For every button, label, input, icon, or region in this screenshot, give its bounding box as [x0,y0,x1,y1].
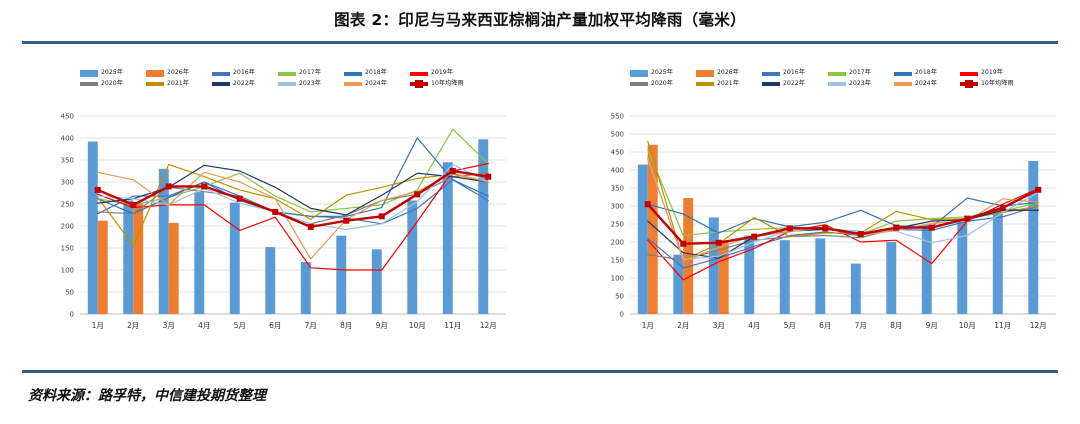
legend-swatch-icon [762,72,780,76]
legend-item-label: 2024年 [915,81,937,87]
legend-item-label: 2018年 [915,70,937,76]
y-axis-tick-label: 50 [615,293,624,301]
legend-swatch-icon [212,72,230,76]
legend-item[interactable]: 2018年 [344,70,410,77]
legend-item-label: 2019年 [431,70,453,76]
legend-swatch-icon [410,82,428,86]
y-axis-tick-label: 200 [611,239,624,247]
x-axis-tick-label: 6月 [269,321,281,330]
y-axis-tick-label: 250 [61,201,74,209]
legend-swatch-icon [894,72,912,76]
chart-panel-indonesia: 2025年2026年2016年2017年2018年2019年2020年2021年… [34,62,514,342]
chart-line-series[interactable] [648,157,1039,260]
chart-series-marker [822,225,828,231]
legend-item-label: 2026年 [717,70,739,76]
chart-line-series[interactable] [648,149,1039,235]
legend-item[interactable]: 2026年 [146,70,212,77]
chart-series-marker [379,213,385,219]
legend-swatch-icon [630,82,648,86]
legend-swatch-icon [960,82,978,86]
y-axis-tick-label: 500 [611,131,624,139]
chart-series-marker [751,234,757,240]
chart-line-series[interactable] [98,164,489,245]
legend-swatch-icon [696,70,714,77]
legend-swatch-icon [212,82,230,86]
chart-svg: 0501001502002503003504004501月2月3月4月5月6月7… [34,110,514,340]
chart-bar[interactable] [301,262,311,314]
legend-item[interactable]: 2020年 [630,81,696,87]
x-axis-tick-label: 11月 [994,321,1011,330]
legend-item-label: 2018年 [365,70,387,76]
legend-swatch-icon [630,70,648,77]
legend-item[interactable]: 2023年 [828,81,894,87]
chart-series-marker [414,191,420,197]
legend-item-label: 2024年 [365,81,387,87]
chart-bar[interactable] [638,165,648,314]
legend-swatch-icon [696,82,714,86]
chart-series-marker [485,174,491,180]
chart-series-marker [1000,205,1006,211]
chart-bar[interactable] [169,223,179,314]
x-axis-tick-label: 3月 [163,321,175,330]
x-axis-tick-label: 4月 [198,321,210,330]
y-axis-tick-label: 450 [611,149,624,157]
legend-item[interactable]: 2024年 [894,81,960,87]
chart-series-marker [201,183,207,189]
chart-bar[interactable] [957,221,967,314]
y-axis-tick-label: 400 [61,135,74,143]
legend-item-label: 2016年 [233,70,255,76]
chart-series-marker [929,225,935,231]
chart-bar[interactable] [336,236,346,314]
chart-bar[interactable] [265,247,275,314]
legend-item[interactable]: 2021年 [146,81,212,87]
x-axis-tick-label: 5月 [234,321,246,330]
report-figure-page: 图表 2：印尼与马来西亚棕榈油产量加权平均降雨（毫米） 2025年2026年20… [0,0,1080,424]
chart-bar[interactable] [88,142,98,314]
chart-bar[interactable] [98,221,108,314]
legend-item[interactable]: 10年均降雨 [410,81,476,87]
chart-bar[interactable] [194,192,204,314]
chart-line-series[interactable] [98,165,489,215]
source-note-text: 资料来源：路孚特，中信建投期货整理 [28,388,266,404]
x-axis-tick-label: 1月 [642,321,654,330]
legend-item-label: 2022年 [233,81,255,87]
legend-swatch-icon [762,82,780,86]
legend-item-label: 2019年 [981,70,1003,76]
legend-item[interactable]: 2026年 [696,70,762,77]
legend-item[interactable]: 2020年 [80,81,146,87]
x-axis-tick-label: 1月 [92,321,104,330]
x-axis-tick-label: 2月 [677,321,689,330]
legend-item[interactable]: 2016年 [212,70,278,77]
x-axis-tick-label: 9月 [926,321,938,330]
chart-panel-malaysia: 2025年2026年2016年2017年2018年2019年2020年2021年… [584,62,1064,342]
chart-series-marker [272,209,278,215]
legend-item[interactable]: 2022年 [212,81,278,87]
y-axis-tick-label: 350 [611,185,624,193]
legend-item[interactable]: 2019年 [410,70,476,77]
chart-series-marker [716,240,722,246]
chart-line-series[interactable] [98,164,489,270]
legend-item-label: 2020年 [101,81,123,87]
legend-item[interactable]: 2025年 [630,70,696,77]
x-axis-tick-label: 7月 [305,321,317,330]
page-title: 图表 2：印尼与马来西亚棕榈油产量加权平均降雨（毫米） [0,8,1080,30]
chart-series-marker [858,231,864,237]
legend-item-label: 2023年 [299,81,321,87]
x-axis-tick-label: 4月 [748,321,760,330]
chart-bar[interactable] [372,249,382,314]
y-axis-tick-label: 100 [611,275,624,283]
page-title-text: 图表 2：印尼与马来西亚棕榈油产量加权平均降雨（毫米） [334,11,746,29]
legend-swatch-icon [278,82,296,86]
y-axis-tick-label: 550 [611,113,624,121]
x-axis-tick-label: 6月 [819,321,831,330]
y-axis-tick-label: 50 [65,289,74,297]
legend-item[interactable]: 2023年 [278,81,344,87]
y-axis-tick-label: 450 [61,113,74,121]
legend-swatch-icon [410,72,428,76]
y-axis-tick-label: 300 [611,203,624,211]
chart-bar[interactable] [133,203,143,314]
chart-plot-indonesia: 0501001502002503003504004501月2月3月4月5月6月7… [34,110,514,340]
legend-item-label: 10年均降雨 [981,81,1014,87]
chart-legend-indonesia: 2025年2026年2016年2017年2018年2019年2020年2021年… [80,70,480,91]
legend-item[interactable]: 2024年 [344,81,410,87]
legend-item-label: 10年均降雨 [431,81,464,87]
chart-bar[interactable] [815,238,825,314]
chart-series-marker [130,202,136,208]
chart-bar[interactable] [230,203,240,314]
chart-bar[interactable] [407,200,417,314]
x-axis-tick-label: 9月 [376,321,388,330]
chart-bar[interactable] [123,200,133,314]
chart-series-marker [787,225,793,231]
legend-swatch-icon [146,70,164,77]
legend-item[interactable]: 2022年 [762,81,828,87]
legend-swatch-icon [146,82,164,86]
chart-legend-malaysia: 2025年2026年2016年2017年2018年2019年2020年2021年… [630,70,1030,91]
chart-bar[interactable] [780,240,790,314]
y-axis-tick-label: 0 [620,311,624,319]
x-axis-tick-label: 8月 [890,321,902,330]
legend-item-label: 2023年 [849,81,871,87]
legend-item-label: 2022年 [783,81,805,87]
chart-svg: 0501001502002503003504004505005501月2月3月4… [584,110,1064,340]
legend-item-label: 2021年 [717,81,739,87]
chart-bar[interactable] [922,225,932,314]
chart-bar[interactable] [1028,161,1038,314]
legend-item[interactable]: 2017年 [278,70,344,77]
chart-series-marker [166,183,172,189]
x-axis-tick-label: 12月 [1030,321,1047,330]
legend-swatch-icon [894,82,912,86]
chart-series-marker [95,187,101,193]
y-axis-tick-label: 250 [611,221,624,229]
x-axis-tick-label: 5月 [784,321,796,330]
chart-bar[interactable] [851,264,861,314]
x-axis-tick-label: 11月 [444,321,461,330]
chart-bar[interactable] [993,209,1003,314]
chart-series-marker [237,196,243,202]
legend-item[interactable]: 2019年 [960,70,1026,77]
source-divider-bottom [22,370,1058,373]
legend-swatch-icon [80,70,98,77]
legend-swatch-icon [828,82,846,86]
y-axis-tick-label: 200 [61,223,74,231]
legend-swatch-icon [960,72,978,76]
x-axis-tick-label: 8月 [340,321,352,330]
chart-series-marker [964,216,970,222]
x-axis-tick-label: 10月 [959,321,976,330]
y-axis-tick-label: 150 [61,245,74,253]
chart-series-marker [343,218,349,224]
x-axis-tick-label: 7月 [855,321,867,330]
y-axis-tick-label: 300 [61,179,74,187]
source-note: 资料来源：路孚特，中信建投期货整理 [28,385,728,405]
legend-item[interactable]: 2018年 [894,70,960,77]
x-axis-tick-label: 2月 [127,321,139,330]
chart-plot-malaysia: 0501001502002503003504004505005501月2月3月4… [584,110,1064,340]
legend-item[interactable]: 2017年 [828,70,894,77]
legend-swatch-icon [828,72,846,76]
legend-item-label: 2021年 [167,81,189,87]
chart-series-marker [450,168,456,174]
legend-swatch-icon [278,72,296,76]
y-axis-tick-label: 350 [61,157,74,165]
chart-series-marker [308,224,314,230]
legend-item-label: 2017年 [299,70,321,76]
chart-series-marker [1035,187,1041,193]
chart-series-marker [893,225,899,231]
y-axis-tick-label: 400 [611,167,624,175]
legend-item-label: 2016年 [783,70,805,76]
title-divider-top [22,41,1058,44]
x-axis-tick-label: 12月 [480,321,497,330]
x-axis-tick-label: 10月 [409,321,426,330]
legend-swatch-icon [80,82,98,86]
legend-item-label: 2026年 [167,70,189,76]
x-axis-tick-label: 3月 [713,321,725,330]
chart-bar[interactable] [719,240,729,314]
y-axis-tick-label: 150 [611,257,624,265]
legend-item[interactable]: 2025年 [80,70,146,77]
y-axis-tick-label: 0 [70,311,74,319]
legend-swatch-icon [344,72,362,76]
legend-item[interactable]: 2021年 [696,81,762,87]
legend-swatch-icon [344,82,362,86]
legend-item[interactable]: 10年均降雨 [960,81,1026,87]
chart-bar[interactable] [886,242,896,314]
legend-item-label: 2020年 [651,81,673,87]
legend-item-label: 2025年 [651,70,673,76]
legend-item[interactable]: 2016年 [762,70,828,77]
chart-bar[interactable] [443,162,453,314]
chart-line-series[interactable] [98,129,489,212]
legend-item-label: 2025年 [101,70,123,76]
legend-item-label: 2017年 [849,70,871,76]
chart-series-marker [645,201,651,207]
y-axis-tick-label: 100 [61,267,74,275]
chart-series-marker [680,241,686,247]
